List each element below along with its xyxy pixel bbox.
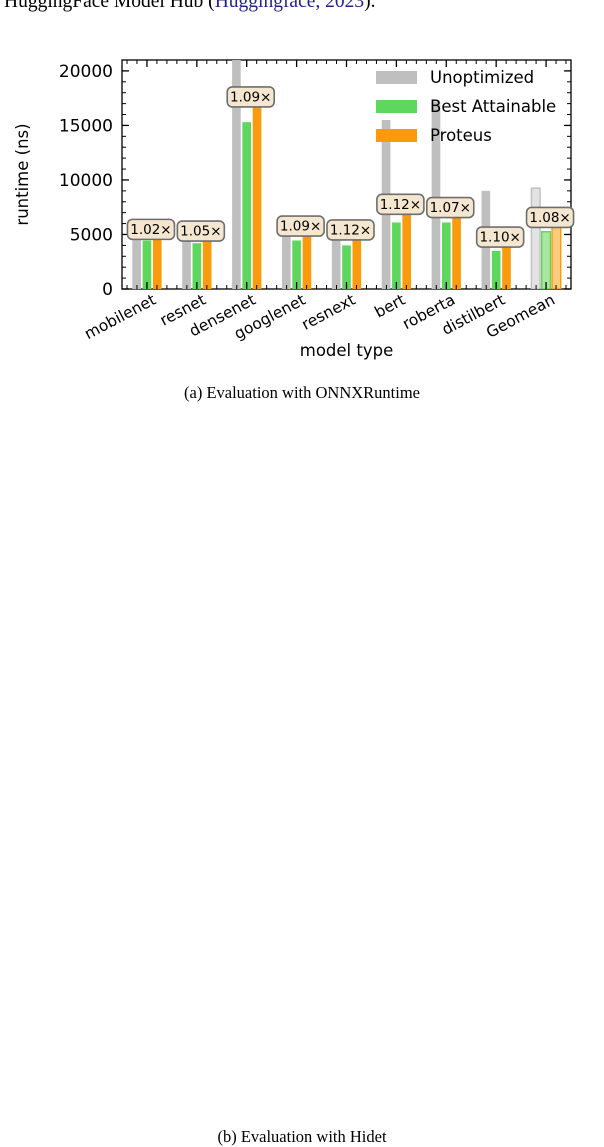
paper-text-after: ). <box>364 0 375 12</box>
chart-svg-a: 05000100001500020000mobilenetresnetdense… <box>0 26 604 376</box>
bar-proteus <box>303 236 312 289</box>
y-tick-label: 10000 <box>59 171 113 191</box>
annotation-label: 1.09× <box>230 89 271 105</box>
annotation-label: 1.10× <box>479 230 520 246</box>
x-tick-label: resnext <box>299 291 359 334</box>
bar-best-attainable <box>392 222 401 289</box>
legend-label: Unoptimized <box>430 68 534 87</box>
x-tick-label: mobilenet <box>81 291 158 344</box>
bar-best-attainable <box>242 122 251 289</box>
figure-a: 05000100001500020000mobilenetresnetdense… <box>0 26 604 376</box>
bar-best-attainable <box>143 240 152 289</box>
y-axis-label: runtime (ns) <box>13 123 32 225</box>
bar-proteus <box>502 247 511 289</box>
chart-svg-b: 010000200003000040000alexnetinceptionmob… <box>0 392 604 770</box>
bar-proteus <box>203 241 212 289</box>
figure-b: 010000200003000040000alexnetinceptionmob… <box>0 392 604 770</box>
annotation-label: 1.09× <box>280 219 321 235</box>
bar-unoptimized <box>282 230 291 289</box>
figure-page: HuggingFace Model Hub (Huggingface, 2023… <box>0 0 604 770</box>
bar-proteus <box>552 227 561 289</box>
annotation-label: 1.05× <box>180 224 221 240</box>
bar-best-attainable <box>292 240 301 289</box>
legend-label: Proteus <box>430 126 492 145</box>
legend-swatch-best-attainable <box>376 100 417 113</box>
x-axis-label: model type <box>300 341 393 360</box>
annotation-label: 1.02× <box>130 222 171 238</box>
annotation-label: 1.07× <box>430 200 471 216</box>
legend-swatch-proteus <box>376 129 417 142</box>
bar-proteus <box>402 214 411 289</box>
y-tick-label: 20000 <box>59 62 113 82</box>
annotation-label: 1.12× <box>330 222 371 238</box>
bar-proteus <box>253 107 262 289</box>
bar-best-attainable <box>542 232 551 289</box>
chart-a-plot: 05000100001500020000mobilenetresnetdense… <box>0 26 604 376</box>
chart-b-plot: 010000200003000040000alexnetinceptionmob… <box>0 392 604 770</box>
bar-unoptimized <box>232 26 241 289</box>
y-tick-label: 0 <box>102 280 113 300</box>
annotation-label: 1.12× <box>380 197 421 213</box>
bar-proteus <box>452 218 461 289</box>
annotation-label: 1.08× <box>529 210 570 226</box>
paper-citation-link[interactable]: Huggingface, 2023 <box>215 0 364 12</box>
paper-body-text: HuggingFace Model Hub (Huggingface, 2023… <box>4 0 600 17</box>
y-tick-label: 5000 <box>70 225 113 245</box>
caption-b: (b) Evaluation with Hidet <box>0 1127 604 1147</box>
legend-swatch-unoptimized <box>376 71 417 84</box>
bar-best-attainable <box>442 222 451 289</box>
legend-label: Best Attainable <box>430 97 556 116</box>
x-tick-labels: mobilenetresnetdensenetgooglenetresnextb… <box>81 291 557 344</box>
bar-proteus <box>352 240 361 289</box>
bar-proteus <box>153 239 162 289</box>
bar-unoptimized <box>531 188 540 289</box>
y-tick-label: 15000 <box>59 116 113 136</box>
paper-text-before: HuggingFace Model Hub ( <box>4 0 215 12</box>
